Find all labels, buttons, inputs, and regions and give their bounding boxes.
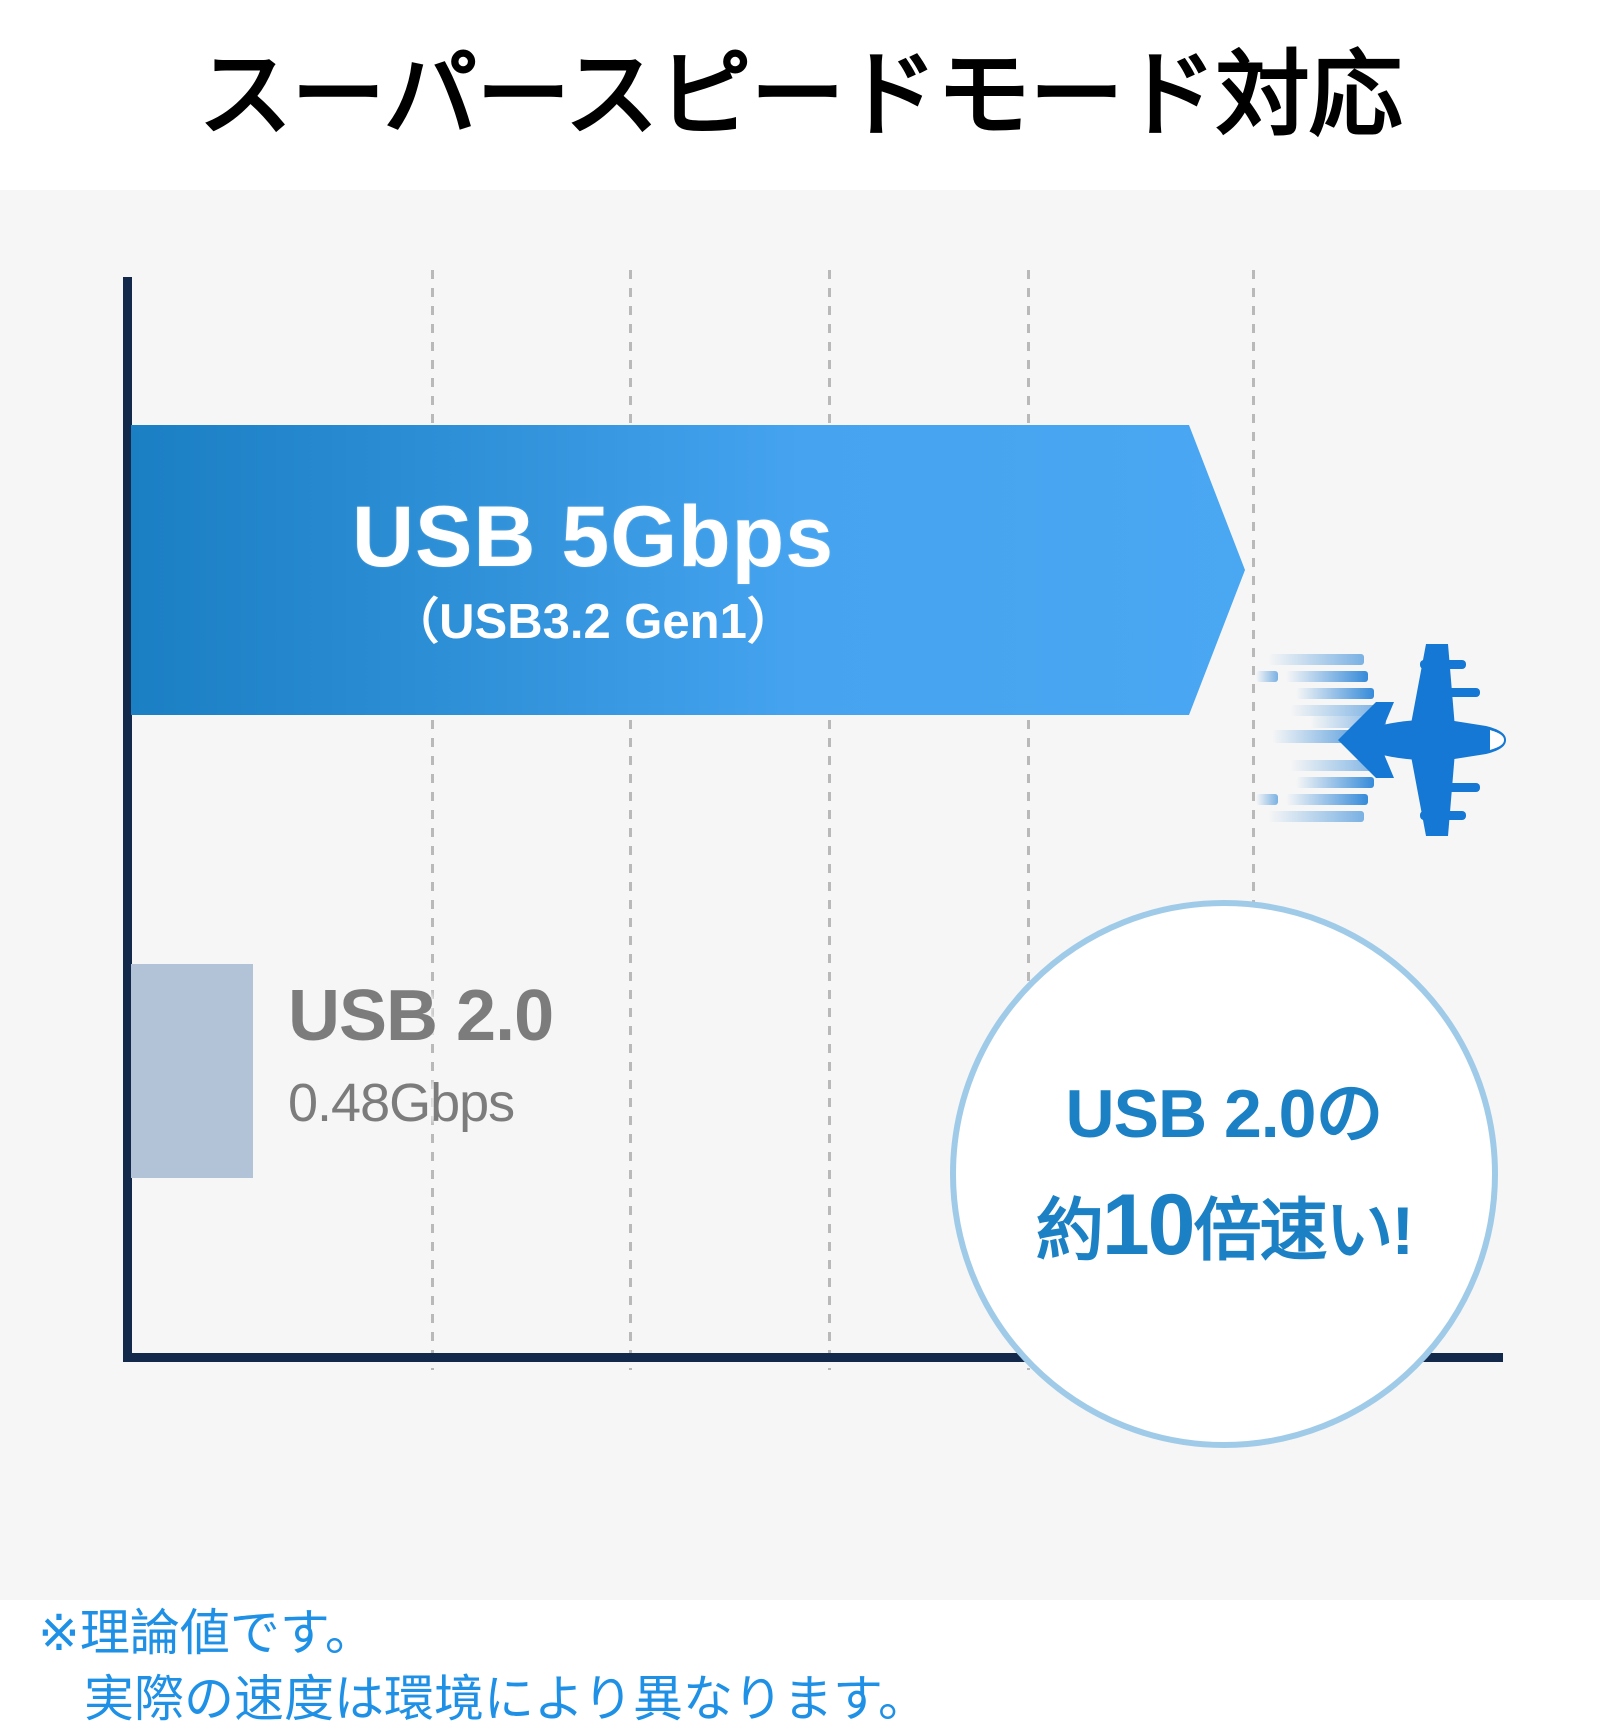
badge-prefix: 約 (1036, 1193, 1102, 1269)
bar-usb20-sublabel: 0.48Gbps (288, 1076, 708, 1130)
bar-usb20 (131, 964, 253, 1178)
badge-line-1: USB 2.0の (1066, 1080, 1383, 1148)
footnote-line-2: 実際の速度は環境により異なります。 (38, 1666, 1138, 1732)
page-title: スーパースピードモード対応 (198, 48, 1401, 142)
badge-suffix: 倍速い! (1194, 1193, 1413, 1269)
bar-usb20-label: USB 2.0 (288, 980, 708, 1052)
badge-line-2: 約10倍速い! (1036, 1182, 1412, 1268)
footnote: ※理論値です。 実際の速度は環境により異なります。 (38, 1600, 1138, 1732)
speed-comparison-badge: USB 2.0の 約10倍速い! (950, 900, 1498, 1448)
badge-number: 10 (1102, 1177, 1194, 1273)
bar-usb5gbps-label: USB 5Gbps (352, 494, 834, 580)
footnote-line-1: ※理論値です。 (38, 1600, 1138, 1666)
header-band: スーパースピードモード対応 (0, 0, 1600, 190)
chart-panel: USB 5Gbps （USB3.2 Gen1） (0, 190, 1600, 1600)
bar-usb20-labels: USB 2.0 0.48Gbps (288, 980, 708, 1130)
bar-usb5gbps: USB 5Gbps （USB3.2 Gen1） (131, 425, 1245, 715)
bar-usb5gbps-sublabel: （USB3.2 Gen1） (390, 598, 796, 647)
airplane-icon (1250, 630, 1510, 850)
y-axis-line (123, 277, 132, 1362)
